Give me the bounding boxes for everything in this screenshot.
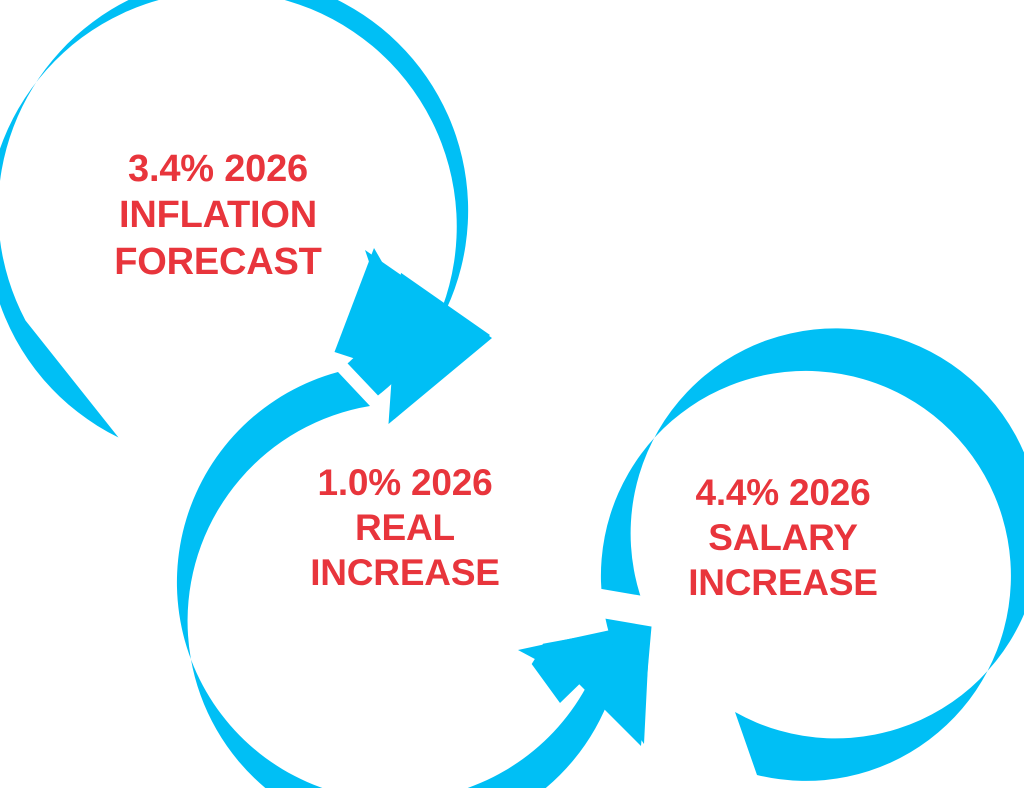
label-salary-increase: 4.4% 2026 SALARY INCREASE bbox=[663, 470, 903, 605]
label-salary-line-1: 4.4% 2026 bbox=[663, 470, 903, 515]
label-salary-line-2: SALARY bbox=[663, 515, 903, 560]
label-salary-line-3: INCREASE bbox=[663, 560, 903, 605]
label-inflation-line-3: FORECAST bbox=[98, 239, 338, 285]
label-inflation-forecast: 3.4% 2026 INFLATION FORECAST bbox=[98, 146, 338, 285]
label-real-increase: 1.0% 2026 REAL INCREASE bbox=[285, 460, 525, 595]
label-real-line-2: REAL bbox=[285, 505, 525, 550]
label-real-line-3: INCREASE bbox=[285, 550, 525, 595]
label-inflation-line-1: 3.4% 2026 bbox=[98, 146, 338, 192]
ring-separator-notch bbox=[590, 588, 666, 628]
cycle-arrows-graphic bbox=[0, 0, 1024, 788]
cycle-infographic: 3.4% 2026 INFLATION FORECAST 1.0% 2026 R… bbox=[0, 0, 1024, 788]
label-real-line-1: 1.0% 2026 bbox=[285, 460, 525, 505]
label-inflation-line-2: INFLATION bbox=[98, 192, 338, 238]
